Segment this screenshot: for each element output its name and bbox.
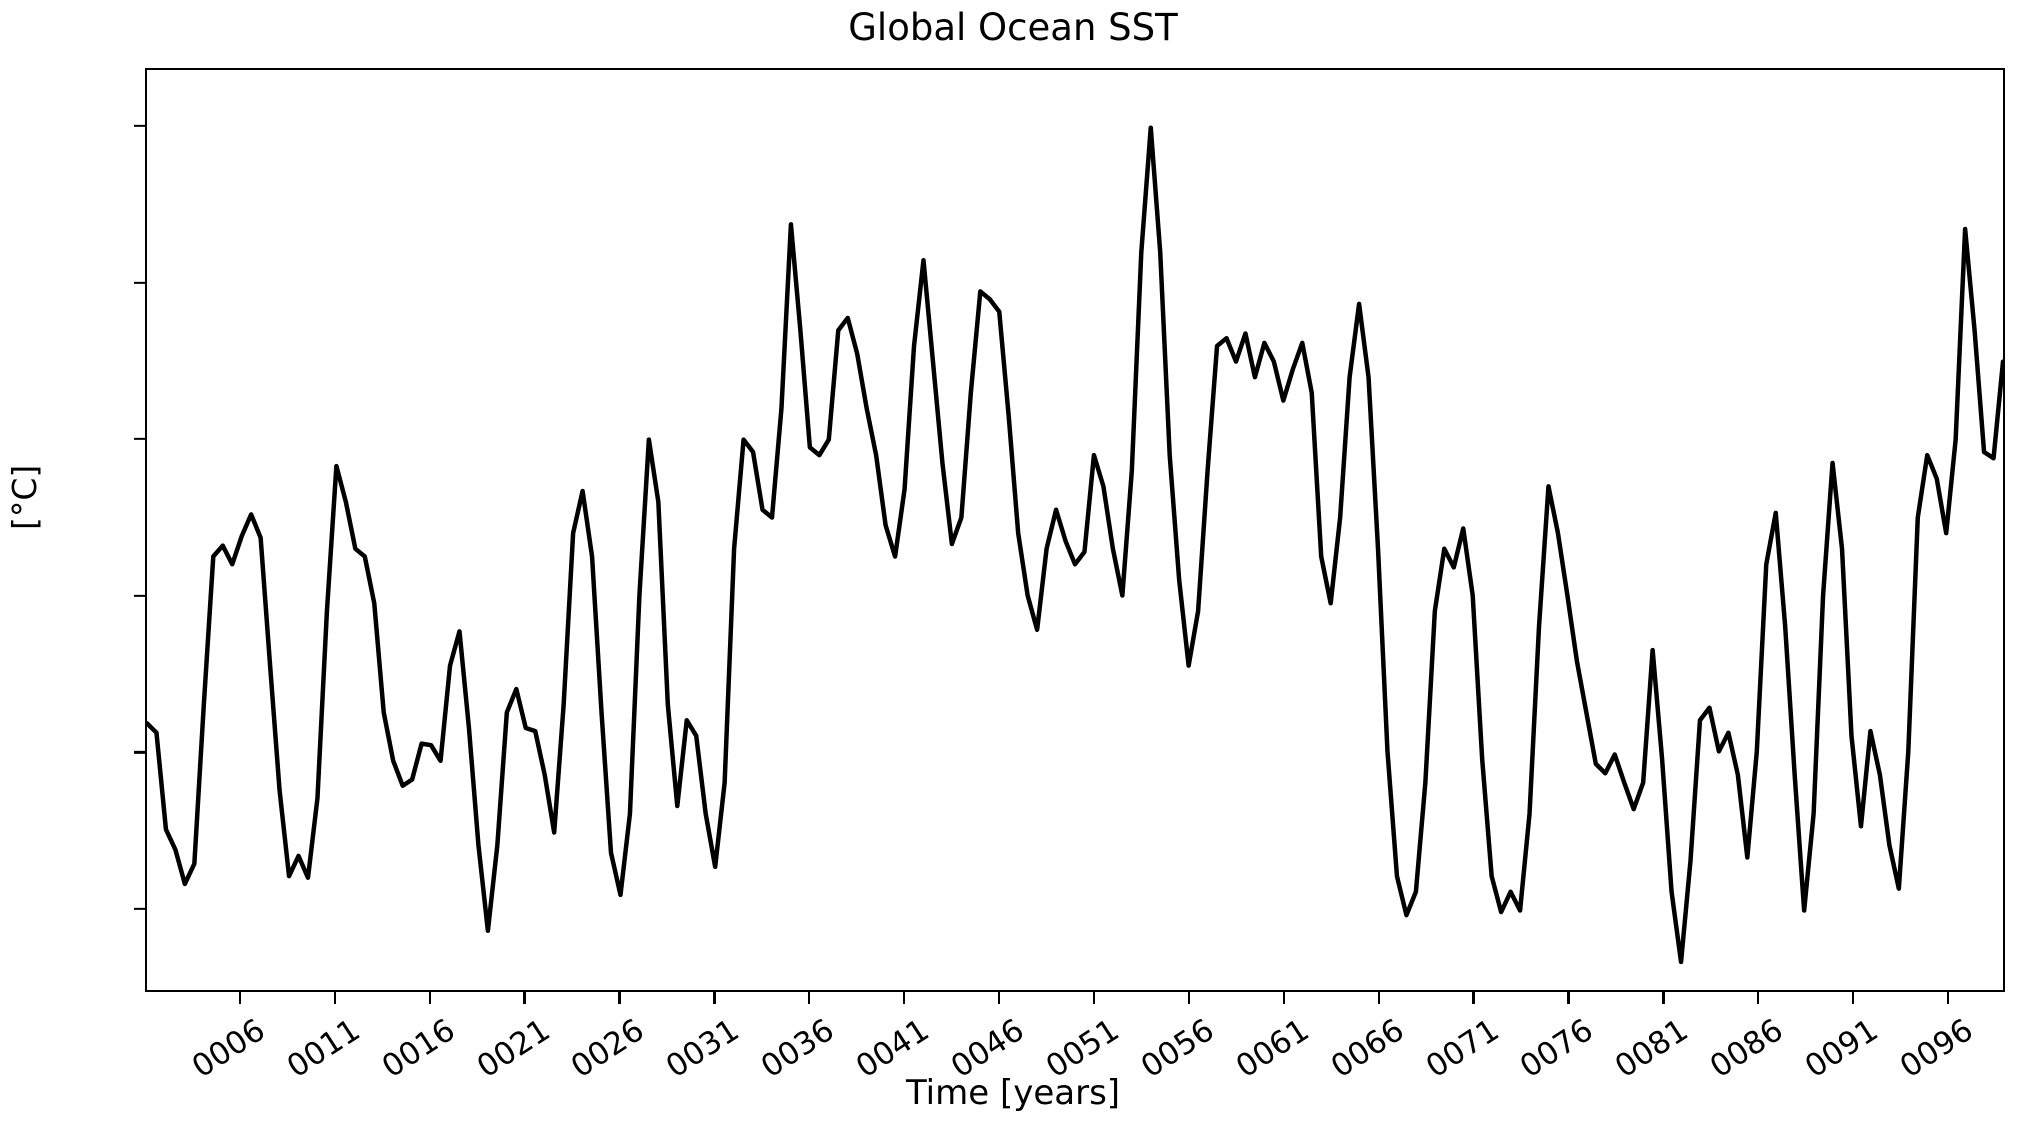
x-tick-mark — [1283, 992, 1285, 1004]
y-tick-mark — [134, 908, 145, 910]
x-tick-mark — [334, 992, 336, 1004]
x-tick-mark — [1947, 992, 1949, 1004]
x-tick-mark — [239, 992, 241, 1004]
plot-area — [145, 68, 2005, 992]
y-tick-mark — [134, 595, 145, 597]
y-tick-mark — [134, 281, 145, 283]
x-tick-mark — [1188, 992, 1190, 1004]
chart-title: Global Ocean SST — [0, 6, 2026, 49]
x-tick-mark — [523, 992, 525, 1004]
data-series-svg — [147, 70, 2003, 990]
x-tick-mark — [1472, 992, 1474, 1004]
x-tick-mark — [808, 992, 810, 1004]
x-tick-mark — [713, 992, 715, 1004]
x-tick-mark — [1378, 992, 1380, 1004]
x-tick-mark — [1757, 992, 1759, 1004]
x-tick-mark — [1852, 992, 1854, 1004]
x-tick-mark — [618, 992, 620, 1004]
y-tick-mark — [134, 125, 145, 127]
x-tick-mark — [1567, 992, 1569, 1004]
chart-figure: Global Ocean SST [°C] 18.118.218.318.418… — [0, 0, 2026, 1137]
x-tick-mark — [1662, 992, 1664, 1004]
sst-line-series — [147, 128, 2003, 962]
x-axis-label: Time [years] — [0, 1073, 2026, 1113]
y-axis-label: [°C] — [5, 465, 44, 530]
y-tick-mark — [134, 751, 145, 753]
x-tick-mark — [903, 992, 905, 1004]
x-tick-mark — [998, 992, 1000, 1004]
x-tick-mark — [1093, 992, 1095, 1004]
y-tick-mark — [134, 438, 145, 440]
x-tick-mark — [429, 992, 431, 1004]
